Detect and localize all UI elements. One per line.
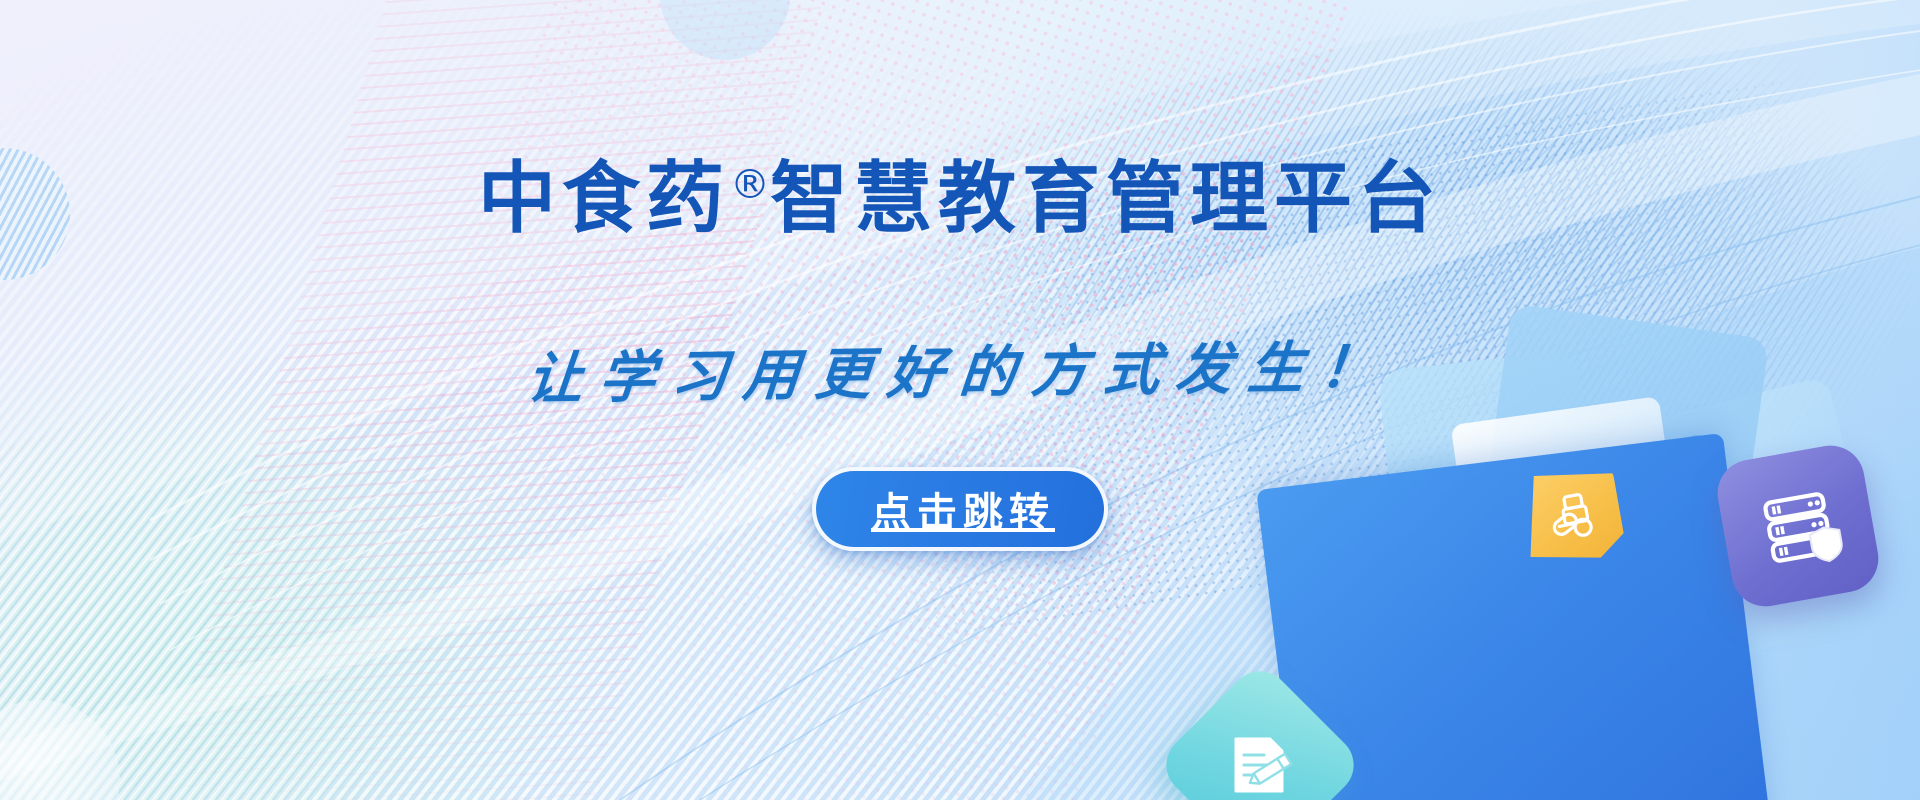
page-subtitle: 让学习用更好的方式发生！ bbox=[524, 322, 1397, 415]
jump-button[interactable]: 点击跳转 bbox=[812, 467, 1108, 551]
page-title: 中食药®智慧教育管理平台 bbox=[478, 160, 1442, 238]
cta-container: 点击跳转 bbox=[812, 467, 1108, 551]
jump-button-label: 点击跳转 bbox=[865, 480, 1055, 538]
registered-mark: ® bbox=[730, 162, 770, 208]
page-title-brand: 中食药 bbox=[478, 154, 730, 244]
hero-banner: 中食药®智慧教育管理平台 让学习用更好的方式发生！ 点击跳转 bbox=[0, 0, 1920, 800]
hero-content: 中食药®智慧教育管理平台 让学习用更好的方式发生！ 点击跳转 bbox=[0, 0, 1920, 800]
page-title-rest: 智慧教育管理平台 bbox=[770, 154, 1442, 244]
